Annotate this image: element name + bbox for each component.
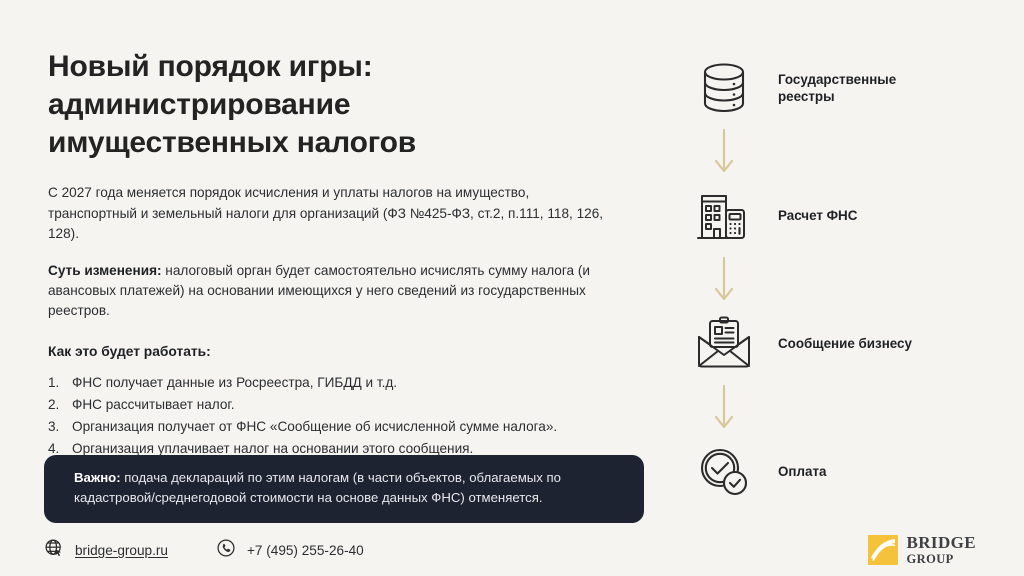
- flow-label-registries: Государственные реестры: [778, 71, 948, 106]
- page-title-line-3: имущественных налогов: [48, 124, 608, 162]
- page-title-line-1: Новый порядок игры:: [48, 48, 608, 86]
- phone-circle-icon: [216, 538, 236, 563]
- website-link[interactable]: bridge-group.ru: [75, 543, 168, 558]
- website-contact[interactable]: bridge-group.ru: [44, 538, 168, 563]
- callout-text: подача деклараций по этим налогам (в час…: [74, 470, 561, 505]
- flow-step-payment: Оплата: [688, 434, 1008, 510]
- arrow-down-icon: [688, 126, 760, 178]
- list-item: 3. Организация получает от ФНС «Сообщени…: [48, 417, 628, 437]
- callout-label: Важно:: [74, 470, 121, 485]
- arrow-down-icon: [688, 382, 760, 434]
- page-title: Новый порядок игры: администрирование им…: [48, 48, 608, 161]
- important-callout: Важно: подача деклараций по этим налогам…: [44, 455, 644, 523]
- essence-label: Суть изменения:: [48, 263, 162, 278]
- flow-label-payment: Оплата: [778, 463, 826, 480]
- database-icon: [688, 59, 760, 117]
- steps-list: 1. ФНС получает данные из Росреестра, ГИ…: [48, 373, 628, 459]
- footer-contacts: bridge-group.ru +7 (495) 255-26-40: [44, 538, 364, 563]
- arrow-down-icon: [688, 254, 760, 306]
- double-check-circle-icon: [688, 443, 760, 501]
- step-text: Организация получает от ФНС «Сообщение о…: [72, 417, 628, 437]
- callout-paragraph: Важно: подача деклараций по этим налогам…: [74, 468, 622, 508]
- flow-label-fns-calculation: Расчет ФНС: [778, 207, 857, 224]
- list-item: 1. ФНС получает данные из Росреестра, ГИ…: [48, 373, 628, 393]
- step-number: 2.: [48, 395, 72, 415]
- phone-contact[interactable]: +7 (495) 255-26-40: [216, 538, 364, 563]
- envelope-document-icon: [688, 315, 760, 373]
- flow-label-business-message: Сообщение бизнесу: [778, 335, 912, 352]
- bridge-group-logo: BRIDGE GROUP: [868, 534, 976, 566]
- process-flow: Государственные реестры: [688, 50, 1008, 510]
- step-number: 1.: [48, 373, 72, 393]
- flow-column: Государственные реестры: [660, 0, 1024, 576]
- flow-step-business-message: Сообщение бизнесу: [688, 306, 1008, 382]
- page-title-line-2: администрирование: [48, 86, 608, 124]
- slide-root: Новый порядок игры: администрирование им…: [0, 0, 1024, 576]
- list-item: 2. ФНС рассчитывает налог.: [48, 395, 628, 415]
- logo-wordmark: BRIDGE GROUP: [907, 534, 976, 566]
- logo-text-bridge: BRIDGE: [907, 534, 976, 551]
- logo-text-group: GROUP: [907, 553, 976, 566]
- step-text: ФНС получает данные из Росреестра, ГИБДД…: [72, 373, 628, 393]
- essence-paragraph: Суть изменения: налоговый орган будет са…: [48, 261, 608, 322]
- step-number: 3.: [48, 417, 72, 437]
- flow-step-fns-calculation: Расчет ФНС: [688, 178, 1008, 254]
- step-text: ФНС рассчитывает налог.: [72, 395, 628, 415]
- flow-step-registries: Государственные реестры: [688, 50, 1008, 126]
- intro-paragraph: С 2027 года меняется порядок исчисления …: [48, 183, 608, 244]
- how-it-works-title: Как это будет работать:: [48, 344, 660, 359]
- phone-number[interactable]: +7 (495) 255-26-40: [247, 543, 364, 558]
- globe-cursor-icon: [44, 538, 64, 563]
- building-calculator-icon: [688, 188, 760, 244]
- bridge-logo-mark: [868, 535, 898, 565]
